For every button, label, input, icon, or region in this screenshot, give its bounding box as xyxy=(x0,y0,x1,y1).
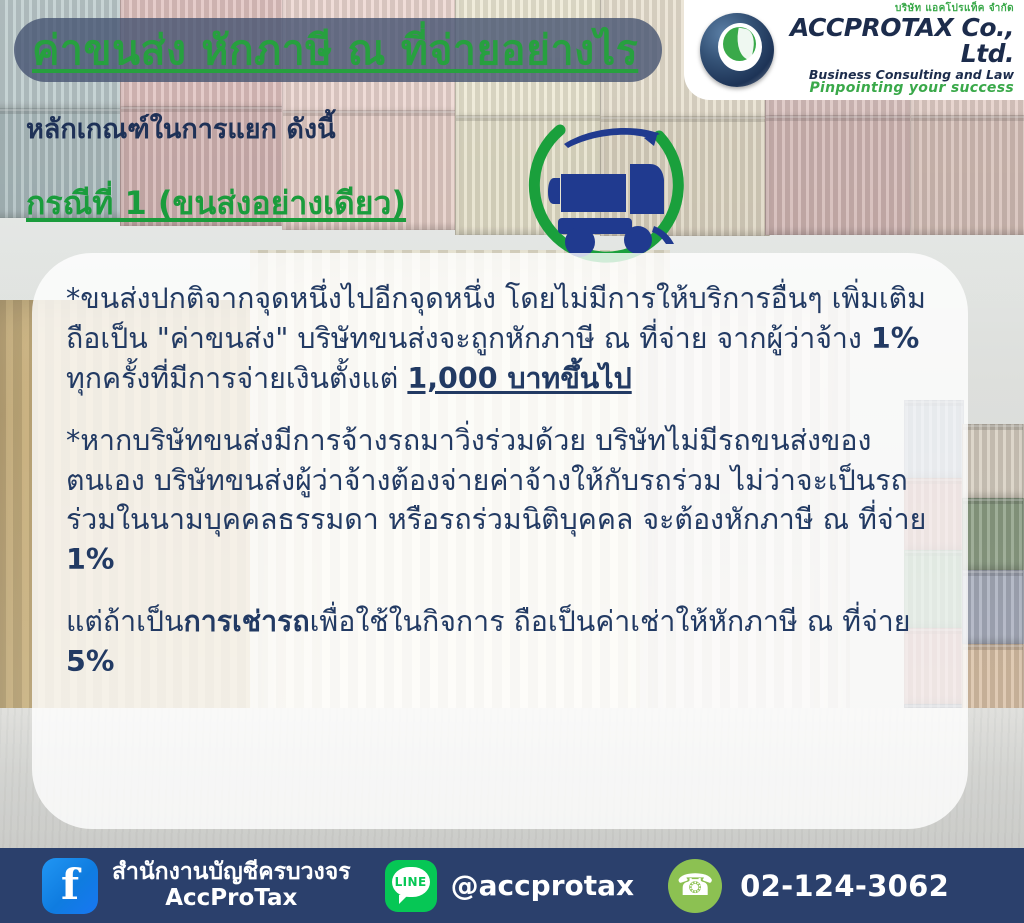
p1-text-a: *ขนส่งปกติจากจุดหนึ่งไปอีกจุดหนึ่ง โดยไม… xyxy=(66,282,926,355)
content-panel: *ขนส่งปกติจากจุดหนึ่งไปอีกจุดหนึ่ง โดยไม… xyxy=(32,253,968,829)
line-word-mark: LINE xyxy=(385,860,437,904)
paragraph-joint-vehicle-hire: *หากบริษัทขนส่งมีการจ้างรถมาวิ่งร่วมด้วย… xyxy=(66,421,934,581)
p3-bold-term: การเช่ารถ xyxy=(183,605,309,638)
page-title: ค่าขนส่ง หักภาษี ณ ที่จ่ายอย่างไร xyxy=(32,30,638,71)
infographic-poster: ค่าขนส่ง หักภาษี ณ ที่จ่ายอย่างไร บริษัท… xyxy=(0,0,1024,923)
p2-rate: 1% xyxy=(66,543,114,576)
brand-subtitle: Business Consulting and Law xyxy=(782,68,1014,81)
paragraph-case-normal-transport: *ขนส่งปกติจากจุดหนึ่งไปอีกจุดหนึ่ง โดยไม… xyxy=(66,279,934,399)
p1-rate: 1% xyxy=(871,322,919,355)
poster-title-bar: ค่าขนส่ง หักภาษี ณ ที่จ่ายอย่างไร xyxy=(14,18,662,82)
line-id-label: @accprotax xyxy=(451,869,635,902)
p3-rate: 5% xyxy=(66,645,114,678)
p1-text-b: ทุกครั้งที่มีการจ่ายเงินตั้งแต่ xyxy=(66,362,407,395)
brand-name: ACCPROTAX Co., Ltd. xyxy=(782,15,1014,68)
p2-text-a: *หากบริษัทขนส่งมีการจ้างรถมาวิ่งร่วมด้วย… xyxy=(66,424,926,537)
case-heading: กรณีที่ 1 (ขนส่งอย่างเดียว) xyxy=(26,178,406,229)
facebook-label-line2: AccProTax xyxy=(112,886,351,912)
phone-icon[interactable]: ☎ xyxy=(668,859,722,913)
p1-threshold-amount: 1,000 บาทขึ้นไป xyxy=(407,362,631,395)
criteria-subheading: หลักเกณฑ์ในการแยก ดังนี้ xyxy=(26,107,336,150)
line-icon[interactable]: LINE xyxy=(385,860,437,912)
phone-number-label: 02-124-3062 xyxy=(740,869,949,903)
facebook-icon[interactable]: f xyxy=(42,858,98,914)
facebook-label-line1: สำนักงานบัญชีครบวงจร xyxy=(112,860,351,886)
brand-tagline: Pinpointing your success xyxy=(782,81,1014,96)
p3-text-b: เพื่อใช้ในกิจการ ถือเป็นค่าเช่าให้หักภาษ… xyxy=(310,605,911,638)
line-contact[interactable]: LINE @accprotax xyxy=(351,860,635,912)
phone-handset-glyph: ☎ xyxy=(668,859,722,913)
brand-logo-text: บริษัท แอคโปรแท็ค จำกัด ACCPROTAX Co., L… xyxy=(782,4,1014,96)
p3-text-a: แต่ถ้าเป็น xyxy=(66,605,183,638)
facebook-f-glyph: f xyxy=(42,858,98,914)
paragraph-vehicle-rental: แต่ถ้าเป็นการเช่ารถเพื่อใช้ในกิจการ ถือเ… xyxy=(66,602,934,682)
phone-contact[interactable]: ☎ 02-124-3062 xyxy=(634,859,949,913)
facebook-contact[interactable]: f สำนักงานบัญชีครบวงจร AccProTax xyxy=(42,858,351,914)
brand-logo-card: บริษัท แอคโปรแท็ค จำกัด ACCPROTAX Co., L… xyxy=(684,0,1024,100)
contact-footer-bar: f สำนักงานบัญชีครบวงจร AccProTax LINE @a… xyxy=(0,848,1024,923)
accprotax-logo-mark xyxy=(698,11,776,89)
facebook-label: สำนักงานบัญชีครบวงจร AccProTax xyxy=(112,860,351,912)
